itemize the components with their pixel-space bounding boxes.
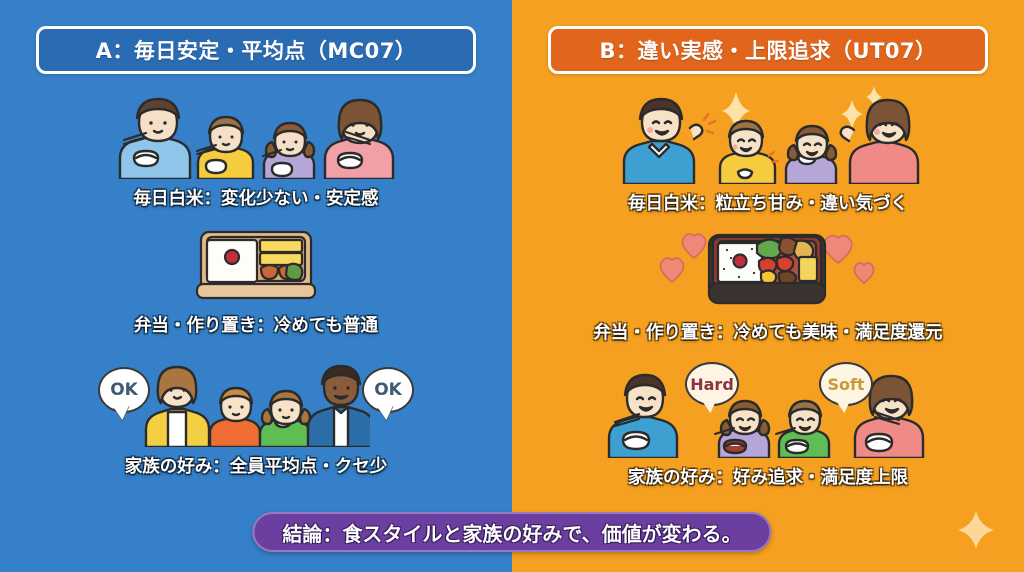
ok-badge-left: OK bbox=[98, 367, 150, 413]
ok-badge-left-text: OK bbox=[110, 380, 138, 400]
soft-badge-text: Soft bbox=[827, 375, 864, 394]
conclusion-banner-text: 結論：食スタイルと家族の好みで、価値が変わる。 bbox=[282, 518, 741, 547]
bento-deluxe-svg bbox=[653, 231, 883, 311]
family-delighted-sparkles-illustration bbox=[608, 84, 928, 184]
panel-a: A：毎日安定・平均点（MC07） bbox=[0, 0, 512, 572]
bento-box-svg bbox=[181, 226, 331, 304]
panel-b-row-3-caption: 家族の好み：好み追求・満足度上限 bbox=[628, 464, 908, 489]
panel-a-row-1-caption: 毎日白米：変化少ない・安定感 bbox=[134, 185, 379, 210]
family-eating-rice-plain-illustration bbox=[106, 84, 406, 179]
panel-b-header-text: B：違い実感・上限追求（UT07） bbox=[599, 35, 936, 65]
soft-badge: Soft bbox=[819, 362, 873, 406]
panel-b-row-1-caption: 毎日白米：粒立ち甘み・違い気づく bbox=[628, 190, 908, 215]
panel-b-row-3: Hard Soft 家族の好み：好み追求・満足度上限 bbox=[512, 362, 1024, 489]
family-eating-rice-svg bbox=[106, 84, 406, 179]
bento-box-deluxe-hearts-illustration bbox=[653, 231, 883, 311]
panel-a-row-1: 毎日白米：変化少ない・安定感 bbox=[0, 84, 512, 210]
panel-a-row-3-caption: 家族の好み：全員平均点・クセ少 bbox=[125, 453, 388, 478]
family-with-preference-bubbles-illustration: Hard Soft bbox=[603, 362, 933, 458]
panel-b-row-2: 弁当・作り置き：冷めても美味・満足度還元 bbox=[512, 231, 1024, 344]
family-preference-svg bbox=[603, 362, 933, 458]
panel-a-row-3: OK bbox=[0, 355, 512, 478]
comparison-infographic: A：毎日安定・平均点（MC07） bbox=[0, 0, 1024, 572]
panel-a-row-2: 弁当・作り置き：冷めても普通 bbox=[0, 226, 512, 337]
bento-box-plain-illustration bbox=[181, 226, 331, 304]
hard-badge: Hard bbox=[685, 362, 739, 406]
ok-badge-right-text: OK bbox=[374, 380, 402, 400]
family-delighted-svg bbox=[608, 84, 928, 184]
family-four-svg bbox=[142, 355, 370, 447]
panel-b-row-1: 毎日白米：粒立ち甘み・違い気づく bbox=[512, 84, 1024, 215]
panel-a-row-2-caption: 弁当・作り置き：冷めても普通 bbox=[134, 312, 378, 337]
ok-badge-right: OK bbox=[362, 367, 414, 413]
family-with-ok-bubbles-illustration: OK bbox=[98, 355, 414, 447]
panel-b-header: B：違い実感・上限追求（UT07） bbox=[548, 26, 988, 74]
panel-b-row-2-caption: 弁当・作り置き：冷めても美味・満足度還元 bbox=[593, 319, 942, 344]
panel-b: B：違い実感・上限追求（UT07） bbox=[512, 0, 1024, 572]
corner-sparkle-icon bbox=[956, 510, 996, 550]
panel-a-header: A：毎日安定・平均点（MC07） bbox=[36, 26, 476, 74]
hard-badge-text: Hard bbox=[690, 375, 734, 394]
conclusion-banner: 結論：食スタイルと家族の好みで、価値が変わる。 bbox=[252, 512, 771, 552]
panel-a-header-text: A：毎日安定・平均点（MC07） bbox=[96, 35, 417, 65]
